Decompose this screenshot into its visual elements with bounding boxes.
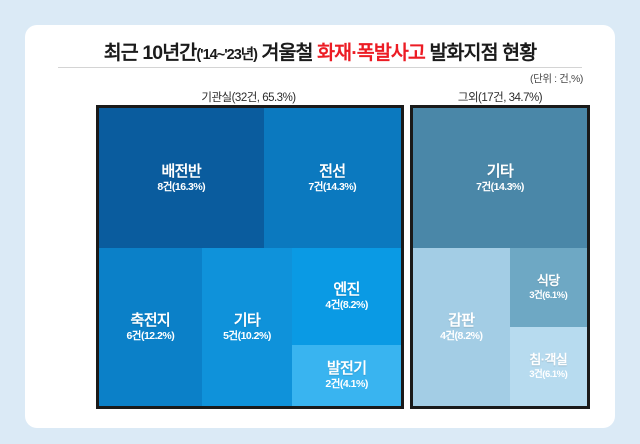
cell-label: 식당 <box>537 274 560 289</box>
infographic-card: 최근 10년간('14~'23년) 겨울철 화재·폭발사고 발화지점 현황 (단… <box>25 25 615 428</box>
cell-label: 기타 <box>234 312 260 329</box>
cell-label: 갑판 <box>448 312 474 329</box>
cell-label: 축전지 <box>131 312 171 329</box>
treemap-cell-gita-engine[interactable]: 기타 5건(10.2%) <box>202 248 293 406</box>
title-year-range: ('14~'23년) <box>196 47 257 63</box>
title-part-3: 겨울철 <box>257 42 317 64</box>
treemap-cell-baejeonban[interactable]: 배전반 8건(16.3%) <box>99 108 264 248</box>
treemap-cell-sikdang[interactable]: 식당 3건(6.1%) <box>510 248 587 327</box>
page-title: 최근 10년간('14~'23년) 겨울철 화재·폭발사고 발화지점 현황 <box>25 36 615 65</box>
treemap-cell-enjin[interactable]: 엔진 4건(8.2%) <box>292 248 401 345</box>
treemap-cell-baljeongi[interactable]: 발전기 2건(4.1%) <box>292 345 401 406</box>
treemap-chart: 배전반 8건(16.3%) 전선 7건(14.3%) 축전지 6건(12.2%)… <box>96 105 590 409</box>
cell-value: 7건(14.3%) <box>308 182 356 194</box>
treemap-cell-gappan[interactable]: 갑판 4건(8.2%) <box>413 248 510 406</box>
cell-value: 4건(8.2%) <box>440 331 482 343</box>
panel-header-engine-room: 기관실(32건, 65.3%) <box>96 89 401 105</box>
title-divider <box>58 67 582 68</box>
cell-value: 4건(8.2%) <box>325 300 367 312</box>
panel-header-other: 그외(17건, 34.7%) <box>410 89 590 105</box>
treemap-cell-jeonseon[interactable]: 전선 7건(14.3%) <box>264 108 401 248</box>
cell-value: 8건(16.3%) <box>157 182 205 194</box>
unit-label: (단위 : 건,%) <box>530 71 583 86</box>
title-highlight: 화재·폭발사고 <box>317 42 425 64</box>
title-part-1: 최근 10년간 <box>104 42 197 64</box>
cell-label: 배전반 <box>161 163 201 180</box>
cell-value: 5건(10.2%) <box>223 331 271 343</box>
cell-value: 3건(6.1%) <box>529 370 567 380</box>
treemap-cell-gita-other[interactable]: 기타 7건(14.3%) <box>413 108 587 248</box>
cell-label: 기타 <box>487 163 513 180</box>
treemap-panel-engine-room: 배전반 8건(16.3%) 전선 7건(14.3%) 축전지 6건(12.2%)… <box>96 105 404 409</box>
treemap-cell-chim-gaeksil[interactable]: 침·객실 3건(6.1%) <box>510 327 587 406</box>
cell-value: 3건(6.1%) <box>529 291 567 301</box>
cell-value: 6건(12.2%) <box>126 331 174 343</box>
treemap-cell-chukjeonji[interactable]: 축전지 6건(12.2%) <box>99 248 202 406</box>
cell-label: 침·객실 <box>529 353 567 368</box>
cell-label: 발전기 <box>327 360 367 377</box>
cell-label: 엔진 <box>333 281 359 298</box>
cell-value: 2건(4.1%) <box>325 379 367 391</box>
title-part-4: 발화지점 현황 <box>425 42 536 64</box>
treemap-panel-other: 기타 7건(14.3%) 갑판 4건(8.2%) 식당 3건(6.1%) 침·객… <box>410 105 590 409</box>
cell-label: 전선 <box>319 163 345 180</box>
cell-value: 7건(14.3%) <box>476 182 524 194</box>
